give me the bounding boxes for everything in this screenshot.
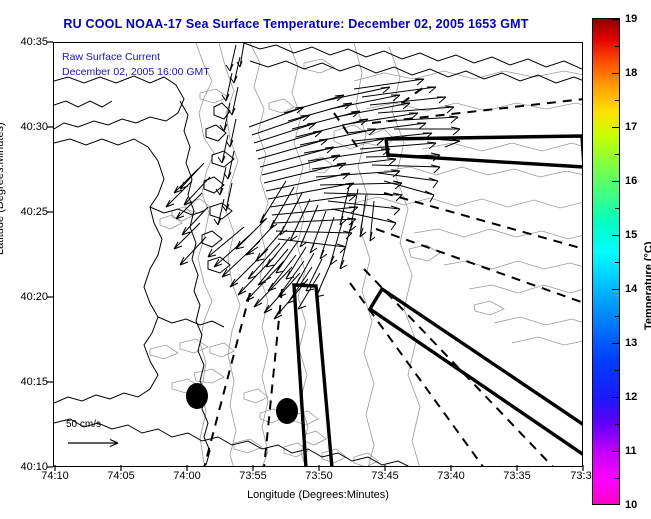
y-tick-label: 40:15: [4, 376, 48, 388]
y-tick-label: 40:35: [4, 36, 48, 48]
y-tick-marks: [44, 36, 56, 476]
colorbar-tick-label: 13: [625, 337, 637, 349]
radar-range-lines: [204, 87, 583, 467]
scale-legend-label: 50 cm/s: [66, 419, 101, 430]
y-axis-title: Latitude (Degrees:Minutes): [0, 122, 6, 255]
figure-canvas: RU COOL NOAA-17 Sea Surface Temperature:…: [0, 0, 651, 519]
colorbar-tick-label: 14: [625, 283, 637, 295]
figure-title: RU COOL NOAA-17 Sea Surface Temperature:…: [0, 17, 592, 31]
colorbar-tick-label: 15: [625, 229, 637, 241]
colorbar-tick-label: 10: [625, 499, 637, 511]
colorbar-title: Temperature (°C): [643, 241, 651, 330]
map-graphics: [54, 43, 583, 467]
colorbar-tick-label: 19: [625, 13, 637, 25]
colorbar-tick-label: 12: [625, 391, 637, 403]
colorbar-tick-label: 16: [625, 175, 637, 187]
colorbar-tick-label: 17: [625, 121, 637, 133]
radar-station-markers: [186, 383, 298, 424]
x-tick-marks: [48, 462, 592, 474]
y-tick-label: 40:25: [4, 206, 48, 218]
velocity-scale-legend: 50 cm/s: [60, 419, 160, 463]
colorbar-tick-label: 18: [625, 67, 637, 79]
y-tick-label: 40:30: [4, 121, 48, 133]
colorbar-tick-label: 11: [625, 445, 637, 457]
map-plot-area: Raw Surface Current December 02, 2005 16…: [53, 42, 583, 467]
scale-arrow-icon: [66, 436, 128, 455]
y-tick-label: 40:20: [4, 291, 48, 303]
x-axis-title: Longitude (Degrees:Minutes): [53, 489, 583, 501]
